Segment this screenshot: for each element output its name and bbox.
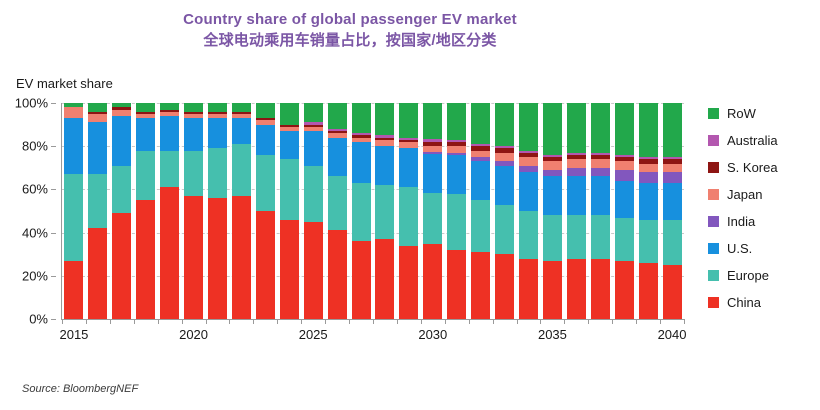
bar-segment-china[interactable]: [112, 213, 131, 319]
stacked-bar[interactable]: [615, 103, 634, 319]
bar-segment-u-s[interactable]: [112, 116, 131, 166]
bar-segment-row[interactable]: [495, 103, 514, 146]
bar-segment-europe[interactable]: [375, 185, 394, 239]
bar-column[interactable]: [517, 103, 541, 319]
x-axis-tick: [588, 319, 589, 324]
bar-segment-china[interactable]: [591, 259, 610, 319]
bar-column[interactable]: [134, 103, 158, 319]
x-axis-tick: [229, 319, 230, 324]
bar-segment-u-s[interactable]: [567, 176, 586, 215]
bar-segment-china[interactable]: [232, 196, 251, 319]
bar-column[interactable]: [445, 103, 469, 319]
bar-segment-row[interactable]: [423, 103, 442, 139]
bar-column[interactable]: [493, 103, 517, 319]
x-axis-tick: [469, 319, 470, 324]
source-note: Source: BloombergNEF: [22, 383, 138, 395]
bar-segment-row[interactable]: [88, 103, 107, 112]
bar-column[interactable]: [349, 103, 373, 319]
bar-segment-row[interactable]: [639, 103, 658, 157]
stacked-bar[interactable]: [208, 103, 227, 319]
bar-segment-europe[interactable]: [88, 174, 107, 228]
bar-segment-u-s[interactable]: [328, 138, 347, 177]
legend-label: Europe: [727, 268, 769, 283]
bar-column[interactable]: [62, 103, 86, 319]
chart-root: Country share of global passenger EV mar…: [0, 0, 820, 410]
bar-segment-china[interactable]: [160, 187, 179, 319]
bar-segment-japan[interactable]: [567, 159, 586, 168]
legend-item-row[interactable]: RoW: [708, 100, 818, 127]
bar-segment-china[interactable]: [328, 230, 347, 319]
bar-segment-china[interactable]: [304, 222, 323, 319]
x-axis-tick: [445, 319, 446, 324]
bar-segment-row[interactable]: [280, 103, 299, 125]
x-axis-tick: [636, 319, 637, 324]
stacked-bar[interactable]: [112, 103, 131, 319]
bar-segment-japan[interactable]: [64, 107, 83, 118]
bar-segment-europe[interactable]: [304, 166, 323, 222]
x-axis-tick: [158, 319, 159, 324]
y-axis-tick: [51, 146, 56, 147]
bar-segment-china[interactable]: [88, 228, 107, 319]
bar-segment-japan[interactable]: [88, 114, 107, 123]
bar-column[interactable]: [182, 103, 206, 319]
x-axis-tick: [612, 319, 613, 324]
bar-column[interactable]: [373, 103, 397, 319]
stacked-bar[interactable]: [64, 103, 83, 319]
bar-segment-u-s[interactable]: [64, 118, 83, 174]
stacked-bar[interactable]: [495, 103, 514, 319]
bar-segment-japan[interactable]: [615, 161, 634, 170]
bar-segment-u-s[interactable]: [399, 148, 418, 187]
stacked-bar[interactable]: [88, 103, 107, 319]
y-axis-tick-label: 80%: [22, 139, 48, 154]
bar-segment-u-s[interactable]: [352, 142, 371, 183]
bar-column[interactable]: [301, 103, 325, 319]
stacked-bar[interactable]: [136, 103, 155, 319]
x-axis-tick: [301, 319, 302, 324]
bar-segment-china[interactable]: [352, 241, 371, 319]
x-axis-tick-label: 2040: [658, 327, 687, 342]
x-axis-tick: [206, 319, 207, 324]
bar-segment-u-s[interactable]: [519, 172, 538, 211]
bar-segment-europe[interactable]: [256, 155, 275, 211]
legend-label: Australia: [727, 133, 778, 148]
legend-item-australia[interactable]: Australia: [708, 127, 818, 154]
bar-segment-u-s[interactable]: [615, 181, 634, 218]
stacked-bar[interactable]: [304, 103, 323, 319]
bar-segment-china[interactable]: [136, 200, 155, 319]
legend-label: India: [727, 214, 755, 229]
bar-segment-europe[interactable]: [615, 218, 634, 261]
legend-item-india[interactable]: India: [708, 208, 818, 235]
chart-legend: RoWAustraliaS. KoreaJapanIndiaU.S.Europe…: [708, 100, 818, 316]
bar-segment-europe[interactable]: [519, 211, 538, 259]
x-axis-tick: [182, 319, 183, 324]
y-axis-tick: [51, 319, 56, 320]
stacked-bar[interactable]: [423, 103, 442, 319]
x-axis-tick: [134, 319, 135, 324]
bar-segment-europe[interactable]: [663, 220, 682, 265]
bar-column[interactable]: [660, 103, 684, 319]
bar-segment-row[interactable]: [208, 103, 227, 112]
y-axis-labels: 0%20%40%60%80%100%: [0, 103, 56, 319]
stacked-bar[interactable]: [184, 103, 203, 319]
legend-item-japan[interactable]: Japan: [708, 181, 818, 208]
bar-segment-europe[interactable]: [495, 205, 514, 255]
bar-segment-row[interactable]: [304, 103, 323, 122]
x-axis-tick: [517, 319, 518, 324]
bar-column[interactable]: [564, 103, 588, 319]
x-axis-tick: [349, 319, 350, 324]
stacked-bar[interactable]: [567, 103, 586, 319]
bar-segment-europe[interactable]: [543, 215, 562, 260]
bar-column[interactable]: [636, 103, 660, 319]
bar-segment-china[interactable]: [280, 220, 299, 319]
bar-column[interactable]: [588, 103, 612, 319]
bar-segment-u-s[interactable]: [232, 118, 251, 144]
bar-column[interactable]: [86, 103, 110, 319]
bar-column[interactable]: [253, 103, 277, 319]
bar-segment-u-s[interactable]: [495, 166, 514, 205]
stacked-bar[interactable]: [663, 103, 682, 319]
legend-swatch-icon: [708, 297, 719, 308]
chart-title-block: Country share of global passenger EV mar…: [0, 10, 700, 52]
bar-segment-u-s[interactable]: [591, 176, 610, 215]
y-axis-tick: [51, 103, 56, 104]
bar-segment-china[interactable]: [567, 259, 586, 319]
x-axis-tick: [373, 319, 374, 324]
bar-segment-china[interactable]: [615, 261, 634, 319]
x-axis-tick: [277, 319, 278, 324]
stacked-bar[interactable]: [232, 103, 251, 319]
bar-segment-china[interactable]: [495, 254, 514, 319]
x-axis-tick-label: 2015: [59, 327, 88, 342]
stacked-bar[interactable]: [471, 103, 490, 319]
stacked-bar[interactable]: [639, 103, 658, 319]
bar-segment-china[interactable]: [639, 263, 658, 319]
bar-segment-europe[interactable]: [280, 159, 299, 219]
x-axis-tick: [684, 319, 685, 324]
bar-segment-row[interactable]: [399, 103, 418, 138]
bar-segment-row[interactable]: [136, 103, 155, 112]
chart-title-chinese: 全球电动乘用车销量占比，按国家/地区分类: [0, 30, 700, 52]
y-axis-tick: [51, 189, 56, 190]
x-axis-tick: [253, 319, 254, 324]
bar-segment-europe[interactable]: [591, 215, 610, 258]
stacked-bar[interactable]: [328, 103, 347, 319]
bar-column[interactable]: [229, 103, 253, 319]
stacked-bar[interactable]: [543, 103, 562, 319]
y-axis-title: EV market share: [16, 76, 113, 91]
bar-segment-row[interactable]: [543, 103, 562, 155]
bar-segment-china[interactable]: [184, 196, 203, 319]
x-axis-tick: [325, 319, 326, 324]
bar-segment-row[interactable]: [567, 103, 586, 153]
bar-segment-row[interactable]: [519, 103, 538, 151]
bar-column[interactable]: [540, 103, 564, 319]
x-axis-tick-label: 2025: [299, 327, 328, 342]
bar-segment-row[interactable]: [352, 103, 371, 133]
bar-segment-row[interactable]: [184, 103, 203, 112]
bar-segment-china[interactable]: [447, 250, 466, 319]
bar-segment-row[interactable]: [471, 103, 490, 144]
bar-column[interactable]: [421, 103, 445, 319]
bar-column[interactable]: [397, 103, 421, 319]
x-axis-tick: [493, 319, 494, 324]
bar-segment-japan[interactable]: [495, 153, 514, 162]
bar-segment-china[interactable]: [471, 252, 490, 319]
y-axis-tick-label: 100%: [15, 96, 48, 111]
stacked-bar[interactable]: [519, 103, 538, 319]
legend-label: China: [727, 295, 761, 310]
bar-segment-europe[interactable]: [184, 151, 203, 196]
stacked-bar[interactable]: [375, 103, 394, 319]
bar-segment-u-s[interactable]: [375, 146, 394, 185]
bar-segment-u-s[interactable]: [280, 131, 299, 159]
bar-segment-europe[interactable]: [208, 148, 227, 198]
bar-segment-europe[interactable]: [160, 151, 179, 188]
bar-segment-row[interactable]: [447, 103, 466, 140]
legend-swatch-icon: [708, 189, 719, 200]
bar-column[interactable]: [158, 103, 182, 319]
bar-segment-u-s[interactable]: [208, 118, 227, 148]
bar-segment-europe[interactable]: [64, 174, 83, 260]
bar-segment-china[interactable]: [543, 261, 562, 319]
bar-segment-japan[interactable]: [663, 164, 682, 173]
bar-segment-europe[interactable]: [328, 176, 347, 230]
x-axis-tick: [660, 319, 661, 324]
bar-segment-china[interactable]: [256, 211, 275, 319]
bar-segment-china[interactable]: [423, 244, 442, 319]
bar-segment-row[interactable]: [663, 103, 682, 157]
bar-segment-u-s[interactable]: [543, 176, 562, 215]
bar-segment-india[interactable]: [615, 170, 634, 181]
bar-segment-china[interactable]: [663, 265, 682, 319]
y-axis-tick-label: 0%: [29, 312, 48, 327]
legend-swatch-icon: [708, 135, 719, 146]
bar-segment-japan[interactable]: [543, 161, 562, 170]
bar-segment-u-s[interactable]: [423, 154, 442, 193]
legend-swatch-icon: [708, 162, 719, 173]
bar-series-container: [62, 103, 684, 319]
legend-item-s-korea[interactable]: S. Korea: [708, 154, 818, 181]
x-axis-tick: [540, 319, 541, 324]
bar-segment-row[interactable]: [328, 103, 347, 129]
bar-segment-u-s[interactable]: [663, 183, 682, 220]
stacked-bar[interactable]: [591, 103, 610, 319]
bar-segment-europe[interactable]: [639, 220, 658, 263]
bar-column[interactable]: [277, 103, 301, 319]
bar-segment-u-s[interactable]: [88, 122, 107, 174]
bar-segment-china[interactable]: [208, 198, 227, 319]
bar-segment-europe[interactable]: [471, 200, 490, 252]
bar-segment-europe[interactable]: [352, 183, 371, 241]
bar-segment-u-s[interactable]: [304, 131, 323, 166]
bar-segment-india[interactable]: [663, 172, 682, 183]
bar-segment-u-s[interactable]: [160, 116, 179, 151]
chart-title-english: Country share of global passenger EV mar…: [0, 10, 700, 30]
bar-segment-row[interactable]: [232, 103, 251, 112]
x-axis-tick: [564, 319, 565, 324]
x-axis-ticks: [62, 319, 684, 325]
bar-segment-u-s[interactable]: [256, 125, 275, 155]
x-axis-tick: [86, 319, 87, 324]
bar-column[interactable]: [612, 103, 636, 319]
y-axis-tick-label: 20%: [22, 268, 48, 283]
stacked-bar[interactable]: [160, 103, 179, 319]
bar-segment-europe[interactable]: [399, 187, 418, 245]
bar-segment-china[interactable]: [375, 239, 394, 319]
x-axis-tick: [110, 319, 111, 324]
stacked-bar[interactable]: [280, 103, 299, 319]
x-axis-tick: [397, 319, 398, 324]
bar-segment-row[interactable]: [375, 103, 394, 135]
bar-segment-europe[interactable]: [136, 151, 155, 201]
bar-segment-u-s[interactable]: [471, 161, 490, 200]
legend-label: U.S.: [727, 241, 752, 256]
bar-segment-u-s[interactable]: [639, 183, 658, 220]
x-axis-tick-label: 2020: [179, 327, 208, 342]
bar-segment-india[interactable]: [567, 168, 586, 177]
legend-swatch-icon: [708, 108, 719, 119]
legend-label: S. Korea: [727, 160, 778, 175]
y-axis-line: [61, 103, 62, 320]
bar-segment-europe[interactable]: [112, 166, 131, 214]
bar-segment-u-s[interactable]: [136, 118, 155, 150]
bar-segment-china[interactable]: [64, 261, 83, 319]
bar-segment-japan[interactable]: [591, 159, 610, 168]
stacked-bar[interactable]: [447, 103, 466, 319]
legend-item-u-s[interactable]: U.S.: [708, 235, 818, 262]
bar-segment-europe[interactable]: [447, 194, 466, 250]
bar-segment-india[interactable]: [591, 168, 610, 177]
bar-segment-japan[interactable]: [639, 164, 658, 173]
legend-item-china[interactable]: China: [708, 289, 818, 316]
bar-segment-row[interactable]: [591, 103, 610, 153]
bar-segment-japan[interactable]: [519, 157, 538, 166]
bar-segment-europe[interactable]: [567, 215, 586, 258]
bar-column[interactable]: [110, 103, 134, 319]
legend-label: RoW: [727, 106, 756, 121]
y-axis-tick: [51, 233, 56, 234]
x-axis-labels: 201520202025203020352040: [62, 327, 684, 345]
bar-column[interactable]: [325, 103, 349, 319]
legend-swatch-icon: [708, 243, 719, 254]
y-axis-tick-label: 40%: [22, 225, 48, 240]
stacked-bar[interactable]: [352, 103, 371, 319]
bar-segment-row[interactable]: [615, 103, 634, 155]
bar-segment-india[interactable]: [639, 172, 658, 183]
x-axis-tick-label: 2035: [538, 327, 567, 342]
bar-column[interactable]: [206, 103, 230, 319]
bar-segment-europe[interactable]: [423, 193, 442, 244]
y-axis-tick: [51, 276, 56, 277]
legend-swatch-icon: [708, 270, 719, 281]
stacked-bar[interactable]: [399, 103, 418, 319]
y-axis-tick-label: 60%: [22, 182, 48, 197]
bar-segment-europe[interactable]: [232, 144, 251, 196]
legend-item-europe[interactable]: Europe: [708, 262, 818, 289]
plot-area: [62, 103, 684, 319]
bar-segment-row[interactable]: [256, 103, 275, 118]
legend-label: Japan: [727, 187, 762, 202]
bar-segment-u-s[interactable]: [447, 155, 466, 194]
x-axis-tick-label: 2030: [418, 327, 447, 342]
bar-segment-china[interactable]: [519, 259, 538, 319]
bar-column[interactable]: [469, 103, 493, 319]
legend-swatch-icon: [708, 216, 719, 227]
bar-segment-china[interactable]: [399, 246, 418, 319]
stacked-bar[interactable]: [256, 103, 275, 319]
x-axis-tick: [62, 319, 63, 324]
x-axis-tick: [421, 319, 422, 324]
bar-segment-u-s[interactable]: [184, 118, 203, 150]
